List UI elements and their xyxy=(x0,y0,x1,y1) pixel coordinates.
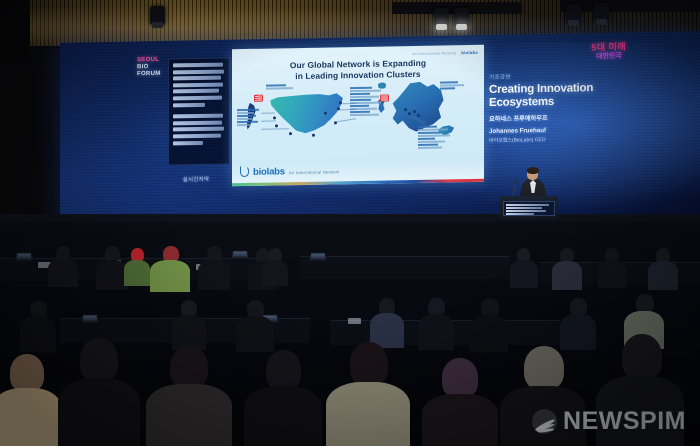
audience-member xyxy=(470,298,508,350)
map-label-group-left xyxy=(237,109,261,127)
audience-member xyxy=(236,300,274,350)
newspim-watermark: NEWSPIM xyxy=(532,409,686,434)
audience-member xyxy=(510,248,538,286)
live-caption-panel xyxy=(168,57,230,165)
conference-hall-photo: 5대 미래 대한민국 SEOUL BIO FORUM 실시간자막 An Inte… xyxy=(0,0,700,446)
map-label-group-right xyxy=(440,81,466,91)
map-pin xyxy=(417,114,420,117)
podium-banner xyxy=(503,201,555,216)
audience-member xyxy=(560,298,596,348)
slide-corner-sub: An International Network xyxy=(412,51,456,56)
map-pin xyxy=(324,112,327,115)
audience-member xyxy=(552,248,582,288)
map-label-group-us-ne xyxy=(350,87,384,117)
event-logo: 5대 미래 대한민국 xyxy=(578,41,641,69)
biolabs-tagline: An International Network xyxy=(289,169,340,176)
map-leader-line xyxy=(261,128,289,129)
map-leader-line xyxy=(336,118,356,122)
map-label-tokyo xyxy=(266,84,294,90)
audience-member xyxy=(598,248,626,286)
audience-member xyxy=(244,350,322,446)
audience-member xyxy=(418,298,454,348)
audience-member xyxy=(262,248,288,284)
map-pin xyxy=(289,132,292,135)
slide-footer: biolabs An International Network xyxy=(232,157,484,186)
newspim-wordmark: NEWSPIM xyxy=(563,409,686,434)
session-title-line2: Ecosystems xyxy=(489,95,601,109)
audience-member xyxy=(172,300,206,348)
audience-member xyxy=(20,300,56,350)
stage-light-icon xyxy=(454,8,469,27)
world-map-graphic xyxy=(232,79,484,161)
paper-sheet xyxy=(348,318,361,324)
stage-light-icon xyxy=(434,8,449,27)
slide-corner-wordmark: biolabs xyxy=(461,50,478,55)
forum-brand-mark: SEOUL BIO FORUM xyxy=(137,57,165,73)
presentation-slide: An International Network biolabs Our Glo… xyxy=(232,45,484,186)
session-kicker: 기조강연 xyxy=(489,71,601,81)
laptop xyxy=(15,253,32,261)
stage-light-icon xyxy=(566,4,581,23)
biolabs-wordmark: biolabs xyxy=(253,167,285,177)
laptop xyxy=(309,253,326,261)
press-table xyxy=(300,256,510,279)
session-title-line1: Creating Innovation xyxy=(489,82,601,96)
live-caption-label: 실시간자막 xyxy=(176,168,216,178)
forum-brand-line2: BIO FORUM xyxy=(137,64,165,78)
map-label-group-europe xyxy=(418,125,452,149)
speaker-name-en: Johannes Fruehauf xyxy=(489,126,601,135)
audience-member xyxy=(648,248,678,288)
laptop xyxy=(231,251,248,259)
map-pin xyxy=(275,124,278,127)
audience-member xyxy=(422,358,498,446)
stage-light-icon xyxy=(594,3,609,22)
map-marker-tokyo xyxy=(254,95,263,102)
audience-member xyxy=(146,346,232,446)
audience-member xyxy=(370,298,404,346)
audience-member xyxy=(124,248,150,284)
audience-member xyxy=(58,338,140,446)
audience-member xyxy=(0,354,62,446)
audience-member xyxy=(326,342,410,446)
map-pin xyxy=(273,116,276,119)
biolabs-logo: biolabs An International Network xyxy=(240,164,340,177)
speaker-info-panel: 기조강연 Creating Innovation Ecosystems 요하네스… xyxy=(489,71,601,138)
lighting-truss-right xyxy=(560,0,700,12)
stage-light-icon xyxy=(150,6,165,25)
map-leader-line xyxy=(261,120,276,121)
speaker-hair xyxy=(527,167,539,174)
map-pin xyxy=(312,134,315,137)
map-leader-line xyxy=(261,112,275,113)
speaker-name-ko: 요하네스 프루에하우프 xyxy=(489,112,601,123)
usa-map-shape xyxy=(268,91,346,140)
laptop xyxy=(81,315,98,323)
ceiling-left-shadow xyxy=(0,0,30,60)
event-logo-line2: 대한민국 xyxy=(578,51,640,62)
slide-corner-logo: An International Network biolabs xyxy=(412,50,478,56)
newspim-logo-icon xyxy=(532,409,557,434)
audience-member xyxy=(198,246,230,288)
audience-member xyxy=(150,246,190,290)
audience-member xyxy=(48,246,78,286)
biolabs-mark-icon xyxy=(240,166,249,177)
